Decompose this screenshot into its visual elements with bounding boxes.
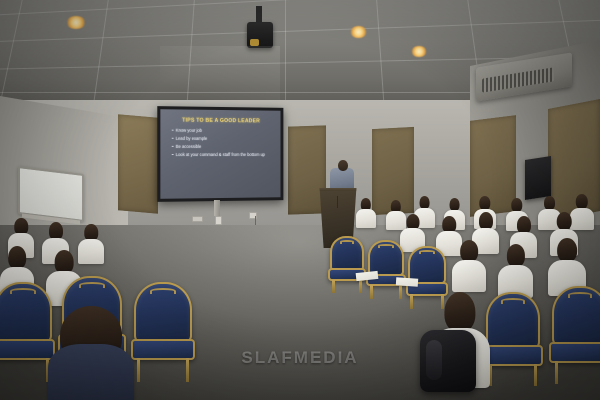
chair-leg [332, 280, 335, 293]
person-head [48, 222, 62, 240]
chair-back-notch [378, 244, 393, 248]
ceiling-downlight [66, 16, 86, 29]
person-torso [452, 260, 486, 292]
chair-seat [549, 342, 600, 363]
person-head [479, 196, 490, 210]
person-head [506, 244, 524, 267]
chair-leg [410, 294, 413, 309]
acoustic-wall-panel [118, 114, 158, 213]
banquet-chair [134, 282, 192, 380]
slide-bullet: Lead by example [172, 136, 274, 142]
chair-leg [186, 358, 189, 382]
seated-audience-member [356, 198, 376, 228]
ceiling-downlight [350, 26, 367, 38]
projector-mount [256, 6, 262, 23]
slide-bullet-list: Know your job Lead by example Be accessi… [168, 128, 274, 158]
person-head [8, 246, 26, 269]
seated-audience-member [498, 244, 533, 298]
ceiling-projector [247, 22, 273, 48]
slide-bullet: Look at your command & staff from the bo… [172, 152, 274, 158]
seated-audience-member [452, 240, 486, 292]
presenter-head [338, 160, 348, 171]
banquet-chair [330, 236, 364, 292]
chair-leg [370, 285, 373, 299]
person-head [478, 212, 492, 230]
conference-room-photo: TIPS TO BE A GOOD LEADER Know your job L… [0, 0, 600, 400]
chair-back [330, 236, 364, 271]
person-head [557, 238, 577, 262]
chair-back [486, 292, 540, 349]
screen-surface: TIPS TO BE A GOOD LEADER Know your job L… [160, 109, 280, 199]
microphone-stand [337, 196, 338, 208]
chair-leg [399, 285, 402, 299]
screen-support-pole [214, 200, 220, 216]
slide-title: TIPS TO BE A GOOD LEADER [168, 117, 274, 124]
wall-speaker [525, 156, 551, 200]
person-torso [48, 344, 134, 400]
handout-paper [396, 277, 419, 287]
banquet-chair [486, 292, 540, 384]
person-torso [356, 209, 376, 228]
wall-switch-plate [192, 216, 203, 222]
banquet-chair [368, 240, 404, 298]
projection-screen: TIPS TO BE A GOOD LEADER Know your job L… [157, 106, 283, 202]
chair-back-notch [568, 292, 593, 298]
banquet-chair [0, 282, 52, 380]
person-head [511, 198, 522, 212]
person-head [516, 216, 530, 234]
chair-back-notch [419, 250, 435, 254]
backpack-strap [426, 340, 442, 380]
chair-back-notch [150, 288, 176, 294]
chair-leg [137, 358, 140, 382]
seated-audience-member [48, 306, 134, 400]
chair-leg [534, 364, 537, 386]
slide-bullet: Know your job [172, 128, 274, 134]
chair-leg [359, 280, 362, 293]
wall-outlet [215, 216, 222, 225]
backpack [420, 330, 476, 392]
slide-bullet: Be accessible [172, 144, 274, 150]
chair-leg [555, 361, 558, 384]
chair-back-notch [10, 288, 36, 294]
presentation-slide: TIPS TO BE A GOOD LEADER Know your job L… [160, 109, 280, 199]
chair-back-notch [501, 298, 525, 304]
chair-back [0, 282, 52, 343]
person-head [55, 250, 74, 274]
chair-back-notch [79, 282, 106, 288]
wall-whiteboard [18, 166, 84, 222]
person-head [460, 240, 478, 262]
chair-seat [131, 339, 196, 361]
ceiling-downlight [411, 46, 427, 57]
person-head [444, 292, 475, 332]
chair-seat [483, 345, 543, 365]
person-head [557, 212, 572, 230]
projector-lens [250, 39, 259, 46]
ac-vent-grille [482, 67, 554, 92]
chair-back [134, 282, 192, 343]
chair-back [552, 286, 600, 346]
acoustic-wall-panel [288, 125, 326, 214]
person-head [576, 194, 588, 209]
chair-back-notch [340, 240, 354, 243]
banquet-chair [552, 286, 600, 382]
